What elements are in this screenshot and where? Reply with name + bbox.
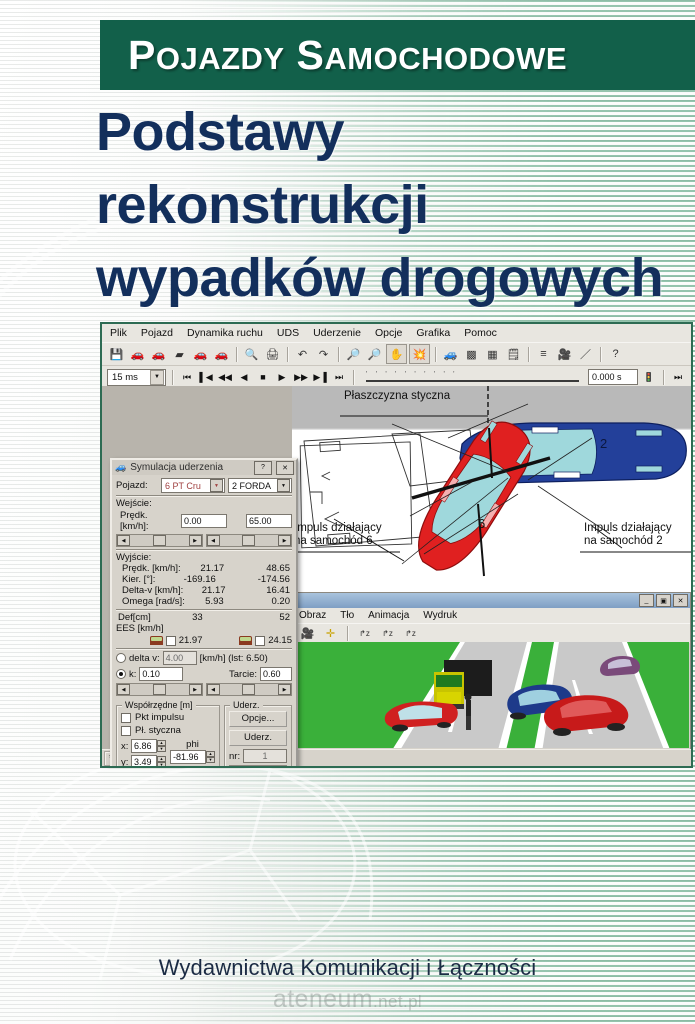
title-line-1: Podstawy (96, 96, 695, 169)
opcje-button[interactable]: Opcje... (229, 711, 287, 727)
camera-icon[interactable]: 🎥 (298, 625, 317, 643)
friction-input[interactable]: 0.60 (260, 667, 292, 681)
k-value: 0.10 (142, 669, 160, 679)
label-impulse-car-6-line1: Impuls działający (294, 522, 382, 535)
y-value: 3.49 (134, 757, 152, 767)
timestep-value: 15 ms (112, 372, 138, 383)
visualization-toolbar: 🎥 ✛ ↱z ↱z ↱z (293, 623, 690, 643)
delta-v-label: delta v: (129, 653, 160, 664)
psi-label: psi (170, 766, 215, 768)
redo-icon[interactable]: ↷ (314, 345, 333, 363)
scroll-thumb[interactable] (153, 684, 166, 695)
title-line-2: rekonstrukcji (96, 169, 695, 242)
menu-item-grafika[interactable]: Grafika (416, 327, 450, 339)
toolbar-separator (347, 626, 348, 641)
divider (116, 648, 292, 649)
speed-a-scrollbar[interactable]: ◀ ▶ (116, 534, 203, 547)
chevron-down-icon[interactable]: ▼ (210, 479, 223, 492)
car-deform-b-icon[interactable] (239, 636, 252, 645)
close-icon[interactable]: ✕ (276, 461, 294, 475)
delta-v-unit: [km/h] (lst: 6.50) (200, 653, 268, 664)
visualization-titlebar: _ ▣ ✕ (293, 593, 690, 608)
output-value-a: 21.17 (200, 563, 224, 574)
scroll-left-icon[interactable]: ◀ (207, 535, 220, 546)
menu-item-wydruk[interactable]: Wydruk (423, 610, 457, 621)
axis-xz-icon[interactable]: ↱z (355, 625, 374, 643)
vehicle-b-select[interactable]: 2 FORDA ▼ (228, 478, 292, 493)
note-icon[interactable]: 🗒 (504, 345, 523, 363)
crash-diagram-svg: 2 6 (292, 386, 691, 592)
divider (116, 549, 292, 550)
visualization-menubar: Obraz Tło Animacja Wydruk (293, 608, 690, 623)
scroll-right-icon[interactable]: ▶ (278, 535, 291, 546)
output-label: Delta-v [km/h]: (118, 585, 183, 596)
speed-b-input[interactable]: 65.00 (246, 514, 292, 528)
car-body-icon[interactable]: ▰ (170, 345, 189, 363)
traffic-light-icon[interactable]: 🚦 (641, 369, 657, 385)
label-impulse-car-6-line2: na samochód 6 (294, 535, 382, 548)
label-impulse-car-2-line2: na samochód 2 (584, 535, 672, 548)
fast-back-icon[interactable]: ◀◀ (217, 369, 233, 385)
watermark-suffix: .net.pl (373, 992, 422, 1011)
play-icon[interactable]: ▶ (274, 369, 290, 385)
zoom-out-icon[interactable]: 🔎 (365, 345, 384, 363)
help-icon[interactable]: ? (254, 461, 272, 475)
x-spin-buttons[interactable]: ▲▼ (157, 740, 166, 752)
timestep-combo[interactable]: 15 ms ▼ (107, 369, 166, 386)
y-label: y: (121, 757, 129, 768)
toolbar-separator (663, 370, 664, 385)
banner-word2-rest: AMOCHODOWE (324, 41, 567, 76)
impact-group: Uderz. Opcje... Uderz. nr: 1 ◀ (224, 705, 292, 768)
axis-move-icon[interactable]: ✛ (321, 625, 340, 643)
time-field[interactable]: 0.000 s (588, 369, 638, 385)
label-tangent-plane: Płaszczyzna styczna (344, 390, 450, 403)
divider (116, 495, 292, 496)
banner-word1-cap: P (128, 32, 156, 78)
step-back-icon[interactable]: ◀ (236, 369, 252, 385)
ees-a-value: 21.97 (179, 635, 203, 646)
toolbar-separator (528, 347, 529, 362)
camera-icon[interactable]: 🎥 (555, 345, 574, 363)
output-row: Omega [rad/s]: 5.93 0.20 (116, 596, 292, 607)
y-input[interactable]: 3.49 (131, 755, 157, 768)
friction-label: Tarcie: (229, 669, 257, 680)
spin-down-icon[interactable]: ▼ (157, 746, 166, 752)
open-dxf2-icon[interactable]: 🚗 (212, 345, 231, 363)
fast-forward-icon[interactable]: ▶▶ (293, 369, 309, 385)
x-label: x: (121, 741, 129, 752)
output-value-b: 48.65 (244, 563, 290, 574)
output-value-b: -174.56 (244, 574, 290, 585)
friction-scrollbar[interactable]: ◀ ▶ (206, 683, 293, 696)
scroll-right-icon[interactable]: ▶ (189, 684, 202, 695)
application-window: Plik Pojazd Dynamika ruchu UDS Uderzenie… (100, 322, 693, 768)
output-row: Kier. [°]: -169.16 -174.56 (116, 574, 292, 585)
crash-diagram: 2 6 (292, 386, 691, 592)
impact-group-title: Uderz. (230, 700, 263, 710)
output-label: Omega [rad/s]: (118, 596, 185, 607)
toolbar-separator (435, 347, 436, 362)
stop-icon[interactable]: ■ (255, 369, 271, 385)
timeline-bar (366, 380, 579, 382)
speed-a-input[interactable]: 0.00 (181, 514, 227, 528)
car-blue-number: 2 (600, 436, 607, 451)
label-impulse-car-6: Impuls działający na samochód 6 (294, 522, 382, 548)
label-impulse-car-2: Impuls działający na samochód 2 (584, 522, 672, 548)
minimize-icon[interactable]: _ (639, 594, 654, 607)
app-toolbar: 💾 🚗 🚗 ▰ 🚗 🚗 🔍 🖨 ↶ ↷ 🔎 🔎 ✋ 💥 🚙 ▩ ▦ 🗒 ≡ � (102, 342, 691, 365)
dof-icon[interactable]: ▦ (483, 345, 502, 363)
publisher-name: Wydawnictwa Komunikacji i Łączności (0, 955, 695, 981)
output-section-header: Wyjście: (116, 552, 292, 563)
crash-grid-icon[interactable]: ▩ (462, 345, 481, 363)
menu-item-uds[interactable]: UDS (277, 327, 299, 339)
phi-stepper[interactable]: -81.96 ▲▼ (170, 750, 215, 764)
measure-line-icon[interactable]: ／ (576, 345, 595, 363)
zoom-in-icon[interactable]: 🔎 (344, 345, 363, 363)
output-label: Kier. [°]: (118, 574, 155, 585)
menu-item-dynamika-ruchu[interactable]: Dynamika ruchu (187, 327, 263, 339)
dialog-title: Symulacja uderzenia (130, 462, 250, 473)
axis-xy-icon[interactable]: ↱z (401, 625, 420, 643)
ees-a-checkbox[interactable] (166, 636, 176, 646)
tangent-plane-label: Pł. styczna (135, 725, 181, 736)
undo-icon[interactable]: ↶ (293, 345, 312, 363)
save-icon[interactable]: 💾 (107, 345, 126, 363)
page-title: Podstawy rekonstrukcji wypadków drogowyc… (96, 96, 695, 315)
book-cover: POJAZDY SAMOCHODOWE Podstawy rekonstrukc… (0, 0, 695, 1024)
tangent-plane-checkbox[interactable] (121, 726, 131, 736)
visualization-scene[interactable] (294, 642, 689, 748)
collision-icon[interactable]: 💥 (409, 344, 430, 364)
scroll-right-icon[interactable]: ▶ (278, 684, 291, 695)
output-row: Delta-v [km/h]: 21.17 16.41 (116, 585, 292, 596)
menu-item-animacja[interactable]: Animacja (368, 610, 409, 621)
def-label: Def[cm] (118, 612, 151, 623)
spin-down-icon[interactable]: ▼ (157, 762, 166, 768)
nr-label: nr: (229, 751, 240, 762)
phi-value: -81.96 (173, 752, 199, 762)
end-icon[interactable]: ⏭ (670, 369, 686, 385)
pan-hand-icon[interactable]: ✋ (386, 344, 407, 364)
menu-item-uderzenie[interactable]: Uderzenie (313, 327, 361, 339)
print-icon[interactable]: 🖨 (263, 345, 282, 363)
chevron-down-icon[interactable]: ▼ (150, 370, 164, 385)
toolbar-separator (287, 347, 288, 362)
k-label: k: (129, 669, 136, 680)
help-icon[interactable]: ? (606, 345, 625, 363)
series-banner-text: POJAZDY SAMOCHODOWE (100, 32, 567, 79)
phi-label: phi (170, 739, 215, 750)
label-impulse-car-2-line1: Impuls działający (584, 522, 672, 535)
delta-v-value: 4.00 (166, 653, 184, 663)
def-value-b: 52 (244, 612, 290, 623)
dialog-body: Pojazd: 6 PT Cru ▼ 2 FORDA ▼ Wejście: (112, 475, 296, 768)
scroll-right-icon[interactable]: ▶ (189, 535, 202, 546)
delta-v-input[interactable]: 4.00 (163, 651, 197, 665)
toolbar-separator (338, 347, 339, 362)
axis-yz-icon[interactable]: ↱z (378, 625, 397, 643)
toolbar-separator (172, 370, 173, 385)
banner-word2-cap: S (297, 32, 325, 78)
scroll-thumb[interactable] (242, 535, 255, 546)
x-input[interactable]: 6.86 (131, 739, 157, 753)
k-radio[interactable] (116, 669, 126, 679)
print-preview-icon[interactable]: 🔍 (242, 345, 261, 363)
scroll-left-icon[interactable]: ◀ (245, 766, 258, 768)
delta-v-radio[interactable] (116, 653, 126, 663)
scroll-left-icon[interactable]: ◀ (117, 535, 130, 546)
collision-simulation-dialog[interactable]: 🚙 Symulacja uderzenia ? ✕ Pojazd: 6 PT C… (110, 458, 298, 768)
speed-a-value: 0.00 (184, 516, 202, 526)
output-value-a: -169.16 (184, 574, 216, 585)
ees-b-value: 24.15 (268, 635, 292, 646)
output-row: Prędk. [km/h]: 21.17 48.65 (116, 563, 292, 574)
vehicle-label: Pojazd: (116, 480, 158, 491)
open-dry-icon[interactable]: 🚗 (149, 345, 168, 363)
open-dxf-icon[interactable]: 🚗 (191, 345, 210, 363)
menu-item-plik[interactable]: Plik (110, 327, 127, 339)
speed-b-value: 65.00 (249, 516, 272, 526)
title-line-3: wypadków drogowych (96, 242, 695, 315)
divider (116, 609, 292, 610)
input-section-header: Wejście: (116, 498, 292, 509)
chevron-down-icon[interactable]: ▼ (277, 479, 290, 492)
app-client-area: 2 6 (102, 386, 691, 750)
site-watermark: ateneum.net.pl (0, 985, 695, 1014)
coordinates-group: Współrzędne [m] Pkt impulsu Pł. styczna (116, 705, 220, 768)
last-frame-icon[interactable]: ▶▐ (312, 369, 328, 385)
timeline-ticks: ' ' ' ' ' ' ' ' ' ' (366, 372, 579, 378)
rewind-all-icon[interactable]: ⏮ (179, 369, 195, 385)
timeline-slider[interactable]: ' ' ' ' ' ' ' ' ' ' (360, 369, 585, 385)
ees-label: EES [km/h] (116, 623, 292, 634)
time-value: 0.000 s (592, 372, 622, 382)
output-label: Prędk. [km/h]: (118, 563, 181, 574)
y-spin-buttons[interactable]: ▲▼ (157, 756, 166, 768)
nr-scrollbar[interactable]: ◀ ▶ (229, 765, 287, 768)
nr-value: 1 (263, 751, 268, 761)
vehicle-a-select[interactable]: 6 PT Cru ▼ (161, 478, 225, 493)
vehicle-b-value: 2 FORDA (232, 481, 271, 491)
spin-down-icon[interactable]: ▼ (206, 757, 215, 763)
uderz-button[interactable]: Uderz. (229, 730, 287, 746)
y-stepper[interactable]: 3.49 ▲▼ (131, 755, 166, 768)
deformation-row: Def[cm] 33 52 (116, 612, 292, 623)
impulse-point-checkbox[interactable] (121, 713, 131, 723)
open-peo-icon[interactable]: 🚗 (128, 345, 147, 363)
output-value-a: 5.93 (205, 596, 224, 607)
def-value-a: 33 (192, 612, 203, 623)
x-stepper[interactable]: 6.86 ▲▼ (131, 739, 166, 753)
menu-item-obraz[interactable]: Obraz (299, 610, 326, 621)
maximize-icon[interactable]: ▣ (656, 594, 671, 607)
two-cars-icon[interactable]: 🚙 (441, 345, 460, 363)
menu-item-tlo[interactable]: Tło (340, 610, 354, 621)
car-deform-a-icon[interactable] (150, 636, 163, 645)
output-value-b: 0.20 (244, 596, 290, 607)
k-scrollbar[interactable]: ◀ ▶ (116, 683, 203, 696)
two-cars-icon: 🚙 (115, 462, 126, 473)
friction-value: 0.60 (263, 669, 281, 679)
scroll-thumb[interactable] (242, 684, 255, 695)
align-icon[interactable]: ≡ (534, 345, 553, 363)
scroll-left-icon[interactable]: ◀ (117, 684, 130, 695)
forward-all-icon[interactable]: ⏭ (331, 369, 347, 385)
toolbar-separator (236, 347, 237, 362)
menu-item-opcje[interactable]: Opcje (375, 327, 402, 339)
dialog-titlebar[interactable]: 🚙 Symulacja uderzenia ? ✕ (112, 460, 296, 475)
first-frame-icon[interactable]: ▌◀ (198, 369, 214, 385)
scroll-thumb[interactable] (153, 535, 166, 546)
scroll-left-icon[interactable]: ◀ (207, 684, 220, 695)
ees-b-checkbox[interactable] (255, 636, 265, 646)
app-playback-toolbar: 15 ms ▼ ⏮ ▌◀ ◀◀ ◀ ■ ▶ ▶▶ ▶▐ ⏭ ' ' ' ' ' … (102, 365, 691, 388)
coordinates-group-title: Współrzędne [m] (122, 700, 196, 710)
visualization-window: _ ▣ ✕ Obraz Tło Animacja Wydruk 🎥 ✛ ↱z ↱… (292, 592, 691, 750)
vehicle-a-value: 6 PT Cru (165, 481, 201, 491)
toolbar-separator (353, 370, 354, 385)
k-input[interactable]: 0.10 (139, 667, 183, 681)
toolbar-separator (600, 347, 601, 362)
app-menubar: Plik Pojazd Dynamika ruchu UDS Uderzenie… (102, 324, 691, 342)
menu-item-pomoc[interactable]: Pomoc (464, 327, 497, 339)
speed-b-scrollbar[interactable]: ◀ ▶ (206, 534, 293, 547)
speed-input-label: Prędk. [km/h]: (116, 510, 178, 532)
banner-word1-rest: OJAZDY (156, 41, 285, 76)
series-banner: POJAZDY SAMOCHODOWE (100, 20, 695, 90)
scroll-right-icon[interactable]: ▶ (259, 766, 272, 768)
output-value-a: 21.17 (202, 585, 226, 596)
x-value: 6.86 (134, 741, 152, 751)
menu-item-pojazd[interactable]: Pojazd (141, 327, 173, 339)
phi-input[interactable]: -81.96 (170, 750, 206, 764)
output-value-b: 16.41 (244, 585, 290, 596)
close-icon[interactable]: ✕ (673, 594, 688, 607)
impulse-point-label: Pkt impulsu (135, 712, 184, 723)
nr-input[interactable]: 1 (243, 749, 287, 763)
watermark-main: ateneum (273, 985, 373, 1013)
phi-spin-buttons[interactable]: ▲▼ (206, 751, 215, 763)
